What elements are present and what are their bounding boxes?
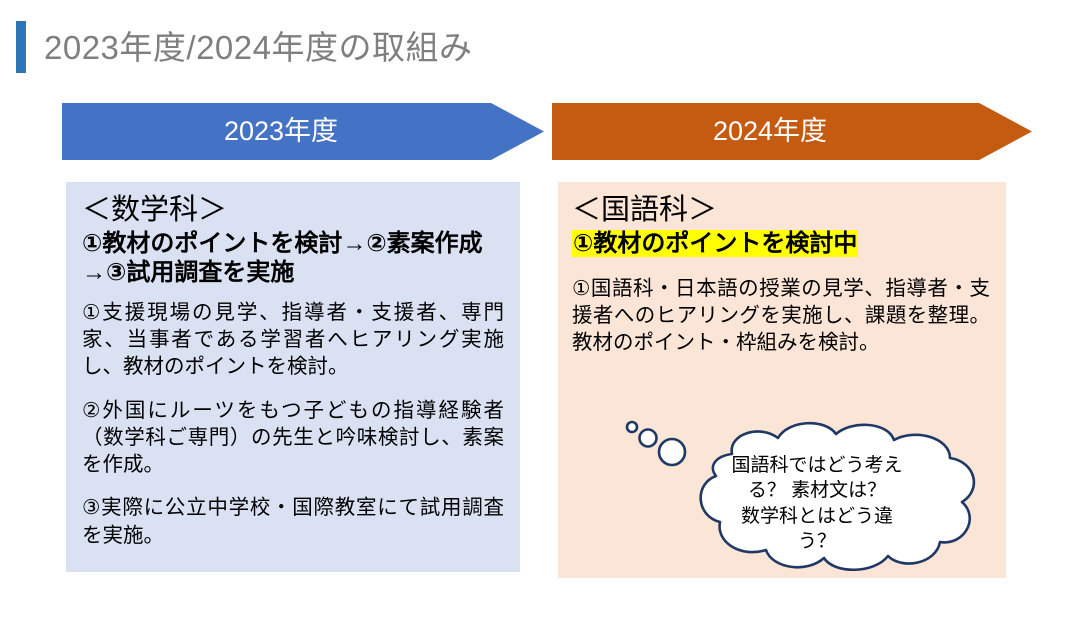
page-title-text: 2023年度/2024年度の取組み bbox=[44, 31, 473, 64]
panel-2023-paragraph-3: ③実際に公立中学校・国際教室にて試用調査を実施。 bbox=[82, 494, 504, 549]
panel-2023-heading: ＜数学科＞ bbox=[82, 192, 504, 228]
panel-2024-japanese: ＜国語科＞ ①教材のポイントを検討中 ①国語科・日本語の授業の見学、指導者・支援… bbox=[558, 182, 1006, 578]
panel-2024-lead-highlight: ①教材のポイントを検討中 bbox=[572, 230, 858, 257]
timeline-arrow-2024: 2024年度 bbox=[552, 103, 1032, 160]
panel-2024-heading: ＜国語科＞ bbox=[572, 192, 990, 228]
timeline-arrow-2023-label: 2023年度 bbox=[224, 118, 338, 145]
panel-2023-paragraph-2: ②外国にルーツをもつ子どもの指導経験者（数学科ご専門）の先生と吟味検討し、素案を… bbox=[82, 397, 504, 479]
panel-2023-paragraph-1: ①支援現場の見学、指導者・支援者、専門家、当事者である学習者へヒアリング実施し、… bbox=[82, 299, 504, 381]
timeline-arrow-2024-label: 2024年度 bbox=[713, 118, 827, 145]
panel-2024-lead: ①教材のポイントを検討中 bbox=[572, 230, 990, 258]
page-title: 2023年度/2024年度の取組み bbox=[16, 20, 473, 74]
timeline-arrow-2023: 2023年度 bbox=[62, 103, 544, 160]
title-accent-bar bbox=[16, 21, 26, 73]
panel-2024-paragraph-1: ①国語科・日本語の授業の見学、指導者・支援者へのヒアリングを実施し、課題を整理。… bbox=[572, 275, 990, 357]
panel-2023-math: ＜数学科＞ ①教材のポイントを検討→②素案作成→③試用調査を実施 ①支援現場の見… bbox=[66, 182, 520, 572]
panel-2023-lead: ①教材のポイントを検討→②素案作成→③試用調査を実施 bbox=[82, 230, 504, 287]
